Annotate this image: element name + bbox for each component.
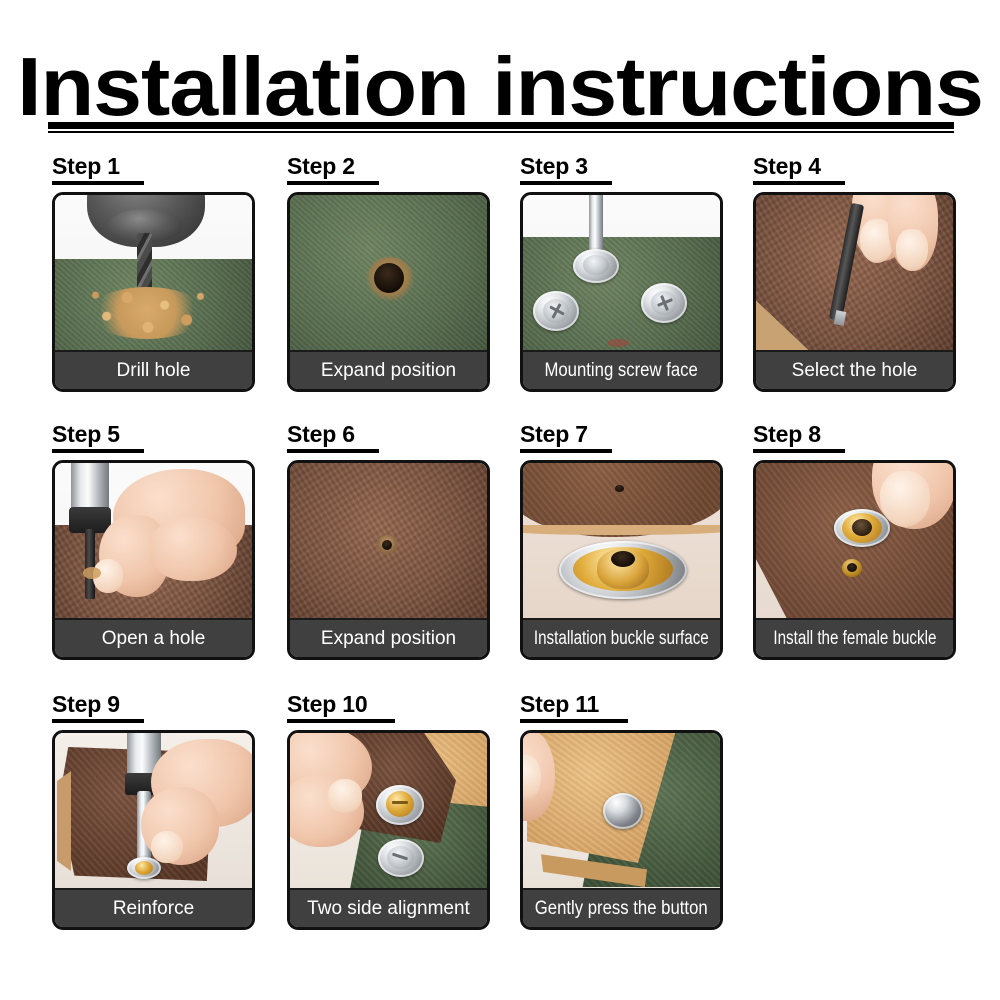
- card-body: Gently press the button: [520, 730, 723, 930]
- step-label-5: Step 5: [52, 422, 255, 447]
- step-label-7: Step 7: [520, 422, 723, 447]
- step-card-1[interactable]: Step 1 Drill hole: [52, 154, 255, 392]
- step-label-underline: [520, 181, 612, 185]
- step-photo-reinforce: [55, 733, 252, 888]
- step-photo-hole-brown: [290, 463, 487, 618]
- step-caption-4: Select the hole: [756, 350, 953, 389]
- step-label-1: Step 1: [52, 154, 255, 179]
- card-body: Expand position: [287, 192, 490, 392]
- step-card-8[interactable]: Step 8 Install the female buckle: [753, 422, 956, 660]
- step-label-underline: [520, 719, 628, 723]
- step-label-11: Step 11: [520, 692, 723, 717]
- step-card-6[interactable]: Step 6 Expand position: [287, 422, 490, 660]
- step-label-4: Step 4: [753, 154, 956, 179]
- card-body: Open a hole: [52, 460, 255, 660]
- card-body: Install the female buckle: [753, 460, 956, 660]
- card-body: Two side alignment: [287, 730, 490, 930]
- step-caption-8: Install the female buckle: [756, 618, 953, 657]
- step-label-underline: [287, 181, 379, 185]
- step-caption-3: Mounting screw face: [523, 350, 720, 389]
- step-card-7[interactable]: Step 7 Installation buckle surface: [520, 422, 723, 660]
- step-card-10[interactable]: Step 10 Two side alignment: [287, 692, 490, 930]
- step-caption-7: Installation buckle surface: [523, 618, 720, 657]
- step-caption-10: Two side alignment: [290, 888, 487, 927]
- step-label-10: Step 10: [287, 692, 490, 717]
- step-caption-11: Gently press the button: [523, 888, 720, 927]
- step-label-underline: [753, 181, 845, 185]
- step-card-3[interactable]: Step 3 Mounting screw face: [520, 154, 723, 392]
- step-label-underline: [52, 719, 144, 723]
- step-photo-hole-green: [290, 195, 487, 350]
- step-card-5[interactable]: Step 5 Open a hole: [52, 422, 255, 660]
- step-photo-buckle-gold: [523, 463, 720, 618]
- step-caption-9: Reinforce: [55, 888, 252, 927]
- step-label-underline: [520, 449, 612, 453]
- step-card-11[interactable]: Step 11 Gently press the button: [520, 692, 723, 930]
- step-caption-1: Drill hole: [55, 350, 252, 389]
- step-label-underline: [52, 449, 144, 453]
- step-photo-female-buckle: [756, 463, 953, 618]
- step-label-3: Step 3: [520, 154, 723, 179]
- step-caption-5: Open a hole: [55, 618, 252, 657]
- step-label-underline: [287, 449, 379, 453]
- step-label-underline: [52, 181, 144, 185]
- step-caption-2: Expand position: [290, 350, 487, 389]
- step-photo-screws-green: [523, 195, 720, 350]
- card-body: Reinforce: [52, 730, 255, 930]
- step-photo-alignment: [290, 733, 487, 888]
- card-body: Mounting screw face: [520, 192, 723, 392]
- card-body: Select the hole: [753, 192, 956, 392]
- step-label-9: Step 9: [52, 692, 255, 717]
- steps-grid: Step 1 Drill hole Step 2: [0, 0, 1000, 1000]
- card-body: Installation buckle surface: [520, 460, 723, 660]
- step-label-8: Step 8: [753, 422, 956, 447]
- step-photo-marker-brown: [756, 195, 953, 350]
- step-photo-drill-green: [55, 195, 252, 350]
- card-body: Expand position: [287, 460, 490, 660]
- step-label-underline: [287, 719, 395, 723]
- card-body: Drill hole: [52, 192, 255, 392]
- step-card-9[interactable]: Step 9 Reinforce: [52, 692, 255, 930]
- step-label-2: Step 2: [287, 154, 490, 179]
- step-photo-punch-brown: [55, 463, 252, 618]
- step-card-2[interactable]: Step 2 Expand position: [287, 154, 490, 392]
- step-label-underline: [753, 449, 845, 453]
- step-caption-6: Expand position: [290, 618, 487, 657]
- step-label-6: Step 6: [287, 422, 490, 447]
- step-photo-press-button: [523, 733, 720, 888]
- step-card-4[interactable]: Step 4 Select the hole: [753, 154, 956, 392]
